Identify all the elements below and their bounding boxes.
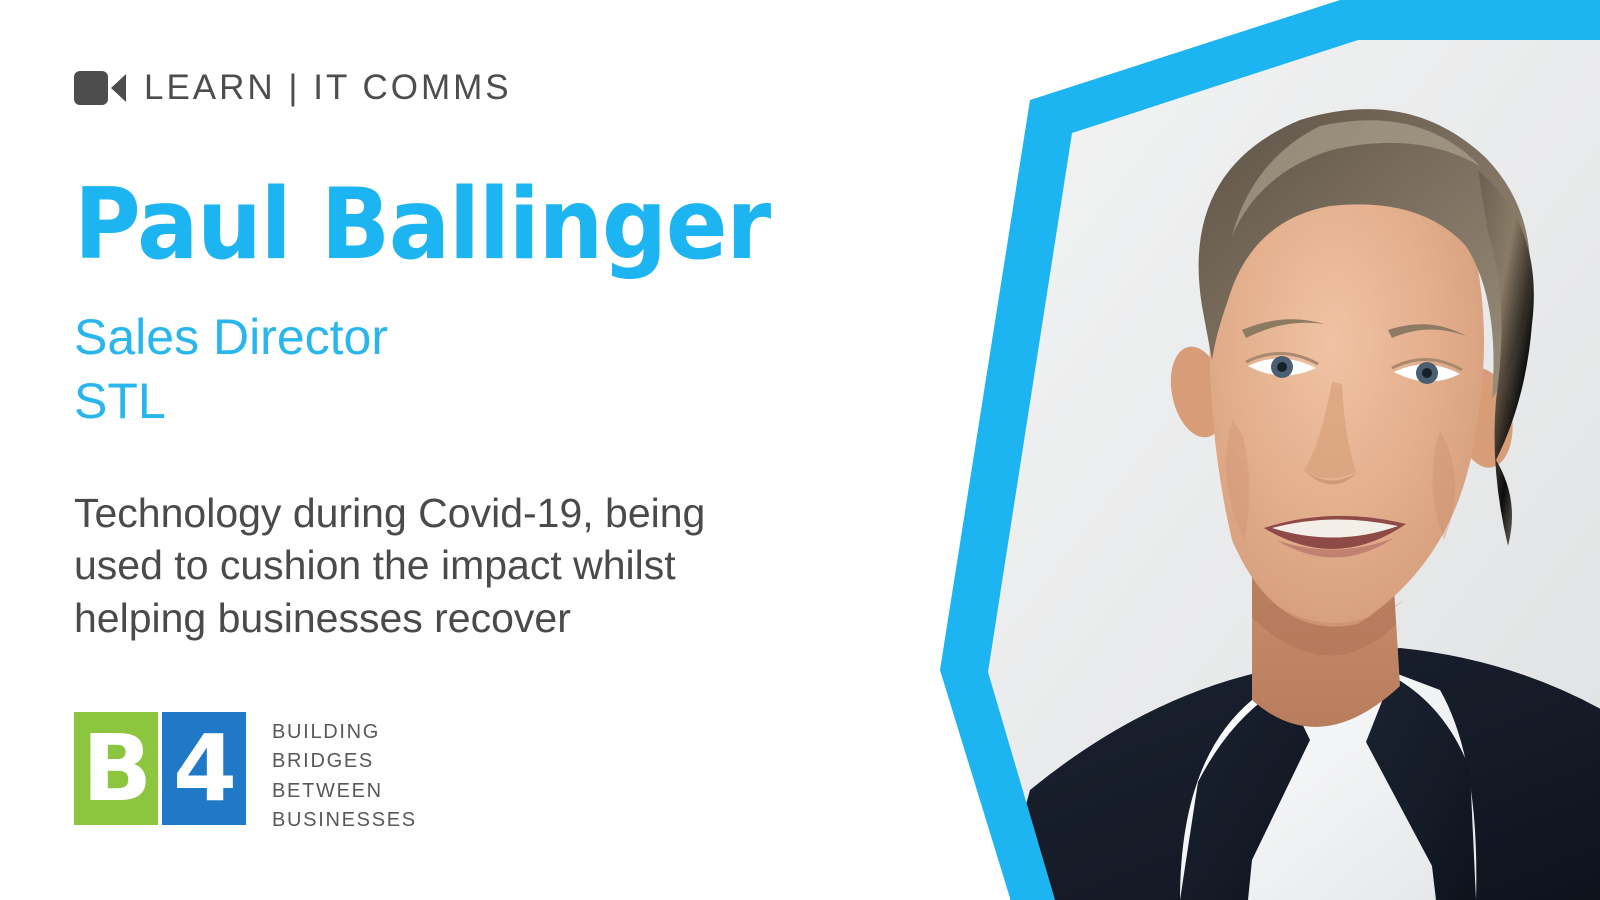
text-column: LEARN | IT COMMS Paul Ballinger Sales Di…	[0, 0, 900, 900]
tagline-line-3: BETWEEN	[272, 777, 417, 806]
speaker-company: STL	[74, 369, 388, 433]
brand-title: LEARN | IT COMMS	[144, 68, 512, 108]
tagline-line-2: BRIDGES	[272, 747, 417, 776]
tagline-line-1: BUILDING	[272, 718, 417, 747]
speaker-announcement-slide: LEARN | IT COMMS Paul Ballinger Sales Di…	[0, 0, 1600, 900]
speaker-portrait	[880, 0, 1600, 900]
talk-title-line-1: Technology during Covid-19, being	[74, 487, 864, 539]
speaker-photo-panel	[880, 0, 1600, 900]
b4-logo-tagline: BUILDING BRIDGES BETWEEN BUSINESSES	[272, 712, 417, 836]
video-camera-icon	[74, 71, 126, 105]
b4-logo-letter-b: B	[74, 712, 158, 825]
speaker-role: Sales Director STL	[74, 305, 388, 433]
tagline-line-4: BUSINESSES	[272, 806, 417, 835]
b4-logo: B 4 BUILDING BRIDGES BETWEEN BUSINESSES	[74, 712, 417, 836]
b4-logo-marks: B 4	[74, 712, 246, 825]
brand-lockup: LEARN | IT COMMS	[74, 68, 512, 108]
speaker-job-title: Sales Director	[74, 305, 388, 369]
talk-title: Technology during Covid-19, being used t…	[74, 487, 864, 644]
speaker-name: Paul Ballinger	[74, 176, 770, 274]
talk-title-line-3: helping businesses recover	[74, 592, 864, 644]
b4-logo-numeral-4: 4	[162, 712, 246, 825]
talk-title-line-2: used to cushion the impact whilst	[74, 539, 864, 591]
